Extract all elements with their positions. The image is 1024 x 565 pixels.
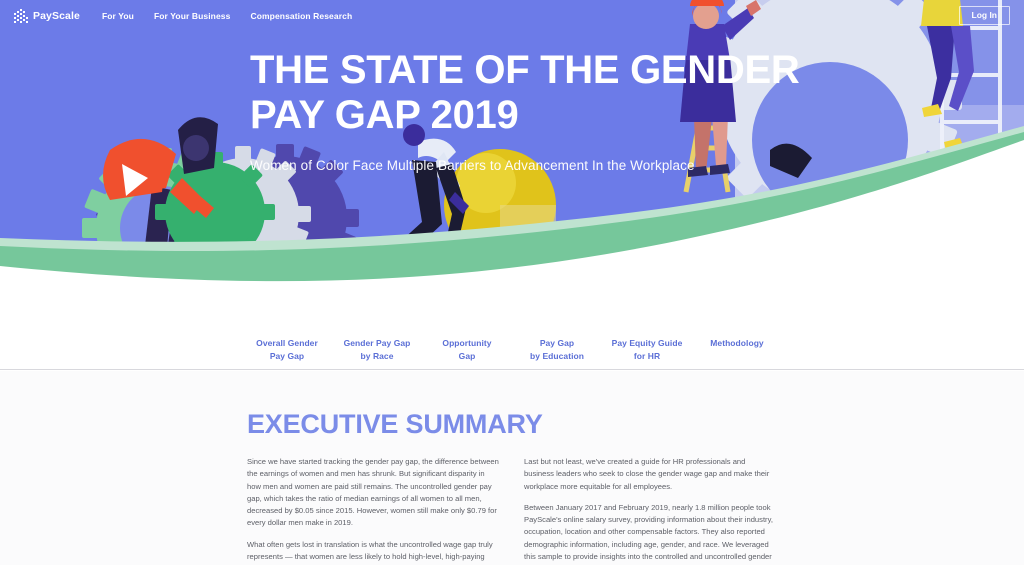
- login-button[interactable]: Log In: [959, 6, 1011, 25]
- anchor-link-pay-equity-guide-for-hr[interactable]: Pay Equity Guide for HR: [602, 337, 692, 362]
- top-nav-links: For You For Your Business Compensation R…: [102, 11, 352, 21]
- anchor-navigation: Overall Gender Pay Gap Gender Pay Gap by…: [0, 330, 1024, 370]
- anchor-link-opportunity-gap[interactable]: Opportunity Gap: [422, 337, 512, 362]
- anchor-link-methodology[interactable]: Methodology: [692, 337, 782, 349]
- hero-title-line-1: THE STATE OF THE GENDER: [250, 48, 799, 93]
- anchor-link-pay-gap-by-education[interactable]: Pay Gap by Education: [512, 337, 602, 362]
- brand-name: PayScale: [33, 10, 80, 22]
- brand-logo[interactable]: PayScale: [14, 9, 80, 23]
- right-paragraph-2: Between January 2017 and February 2019, …: [524, 502, 777, 565]
- top-navigation-bar: PayScale For You For Your Business Compe…: [0, 0, 1024, 32]
- nav-link-compensation-research[interactable]: Compensation Research: [250, 11, 352, 21]
- hero-title: THE STATE OF THE GENDER PAY GAP 2019: [250, 48, 799, 138]
- nav-link-for-your-business[interactable]: For Your Business: [154, 11, 231, 21]
- left-paragraph-2: What often gets lost in translation is w…: [247, 539, 500, 565]
- nav-link-for-you[interactable]: For You: [102, 11, 134, 21]
- hero-title-line-2: PAY GAP 2019: [250, 93, 799, 138]
- two-column-text: Since we have started tracking the gende…: [247, 456, 777, 565]
- hero-subtitle: Women of Color Face Multiple Barriers to…: [250, 158, 799, 173]
- page-root: PayScale For You For Your Business Compe…: [0, 0, 1024, 565]
- right-column: Last but not least, we've created a guid…: [524, 456, 777, 565]
- payscale-dot-matrix-logo-icon: [14, 9, 28, 23]
- hero-text-block: THE STATE OF THE GENDER PAY GAP 2019 Wom…: [250, 48, 799, 173]
- right-paragraph-1: Last but not least, we've created a guid…: [524, 456, 777, 493]
- left-paragraph-1: Since we have started tracking the gende…: [247, 456, 500, 530]
- anchor-link-row: Overall Gender Pay Gap Gender Pay Gap by…: [242, 337, 782, 362]
- left-column: Since we have started tracking the gende…: [247, 456, 500, 565]
- hero-banner: PayScale For You For Your Business Compe…: [0, 0, 1024, 330]
- executive-summary-section: EXECUTIVE SUMMARY Since we have started …: [0, 371, 1024, 565]
- section-title-executive-summary: EXECUTIVE SUMMARY: [247, 409, 777, 440]
- content-container: EXECUTIVE SUMMARY Since we have started …: [247, 371, 777, 565]
- anchor-link-gender-pay-gap-by-race[interactable]: Gender Pay Gap by Race: [332, 337, 422, 362]
- anchor-link-overall-gender-pay-gap[interactable]: Overall Gender Pay Gap: [242, 337, 332, 362]
